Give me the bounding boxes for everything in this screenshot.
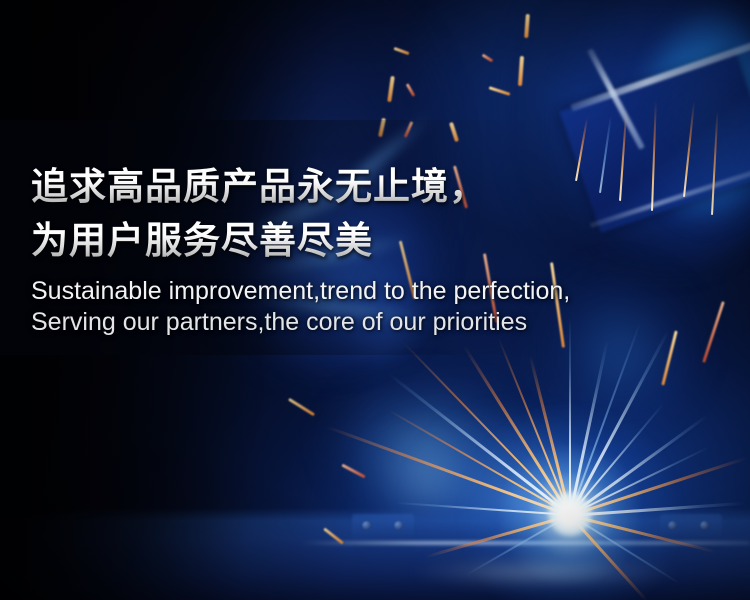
headline-line-2: 为用户服务尽善尽美	[31, 214, 731, 268]
hero-banner: 追求高品质产品永无止境， 为用户服务尽善尽美 Sustainable impro…	[0, 0, 750, 600]
subhead-line-2: Serving our partners,the core of our pri…	[31, 307, 731, 338]
headline-line-1: 追求高品质产品永无止境，	[31, 160, 731, 214]
subhead-line-1: Sustainable improvement,trend to the per…	[31, 276, 731, 307]
headline-group: 追求高品质产品永无止境， 为用户服务尽善尽美	[31, 160, 731, 268]
subhead-group: Sustainable improvement,trend to the per…	[31, 276, 731, 338]
banner-copy: 追求高品质产品永无止境， 为用户服务尽善尽美 Sustainable impro…	[31, 160, 731, 338]
